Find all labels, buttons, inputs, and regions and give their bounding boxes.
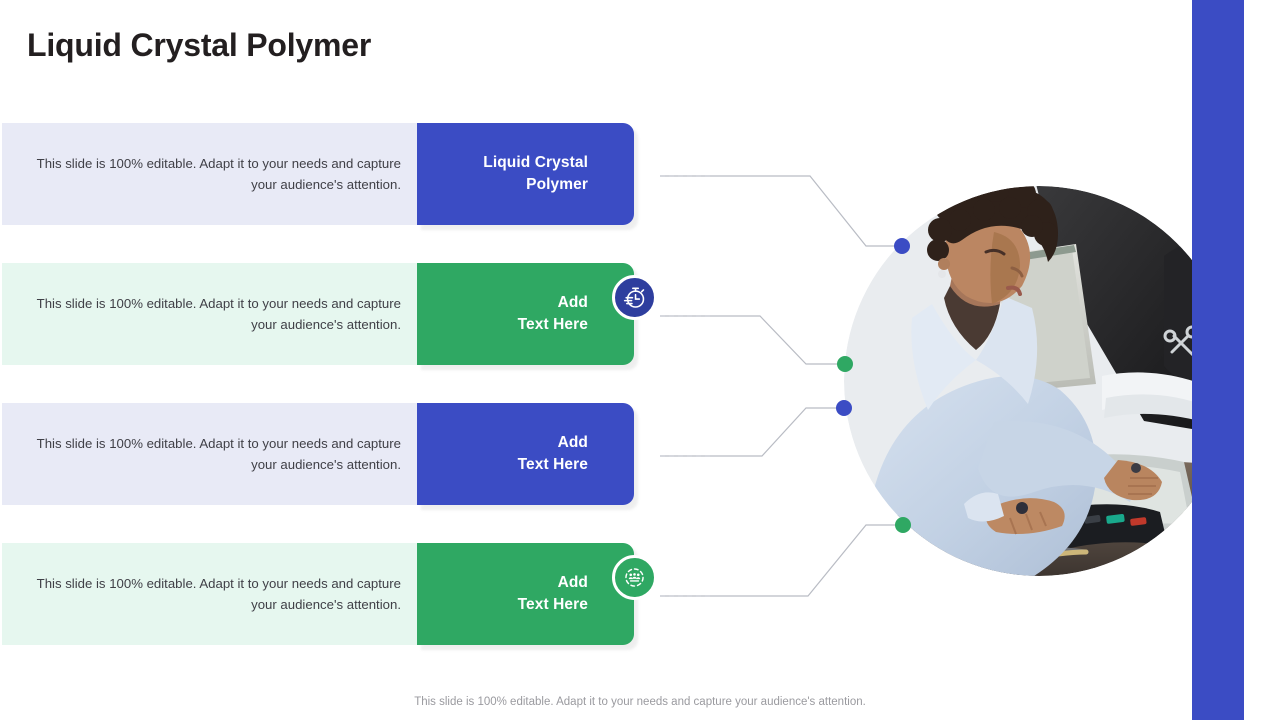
label-line-1: Add (558, 574, 588, 591)
label-line-2: Text Here (518, 456, 588, 473)
description-panel: This slide is 100% editable. Adapt it to… (2, 123, 417, 225)
connector-path-4 (660, 525, 898, 596)
connector-path-3 (660, 408, 842, 456)
description-panel: This slide is 100% editable. Adapt it to… (2, 403, 417, 505)
description-text: This slide is 100% editable. Adapt it to… (22, 433, 401, 475)
content-row[interactable]: This slide is 100% editable. Adapt it to… (0, 123, 660, 225)
team-target-icon[interactable] (612, 555, 657, 600)
label-line-2: Text Here (518, 596, 588, 613)
description-text: This slide is 100% editable. Adapt it to… (22, 153, 401, 195)
connector-node-dot (836, 400, 852, 416)
label-card[interactable]: Liquid Crystal Polymer (417, 123, 634, 225)
label-card[interactable]: Add Text Here (417, 263, 634, 365)
label-line-2: Text Here (518, 316, 588, 333)
connector-path-1 (660, 176, 896, 246)
description-text: This slide is 100% editable. Adapt it to… (22, 573, 401, 615)
page-title: Liquid Crystal Polymer (27, 24, 371, 66)
content-row[interactable]: This slide is 100% editable. Adapt it to… (0, 543, 660, 645)
content-row[interactable]: This slide is 100% editable. Adapt it to… (0, 403, 660, 505)
description-text: This slide is 100% editable. Adapt it to… (22, 293, 401, 335)
description-panel: This slide is 100% editable. Adapt it to… (2, 263, 417, 365)
content-row[interactable]: This slide is 100% editable. Adapt it to… (0, 263, 660, 365)
label-card[interactable]: Add Text Here (417, 403, 634, 505)
connector-node-dot (895, 517, 911, 533)
description-panel: This slide is 100% editable. Adapt it to… (2, 543, 417, 645)
label-line-1: Add (558, 294, 588, 311)
footer-note: This slide is 100% editable. Adapt it to… (0, 696, 1280, 708)
connector-path-2 (660, 316, 844, 364)
label-line-1: Liquid Crystal (483, 154, 588, 171)
label-line-1: Add (558, 434, 588, 451)
label-card-text: Add Text Here (518, 572, 588, 617)
connector-node-dot (894, 238, 910, 254)
label-card-text: Liquid Crystal Polymer (483, 152, 588, 197)
stopwatch-icon[interactable] (612, 275, 657, 320)
label-line-2: Polymer (526, 176, 588, 193)
label-card-text: Add Text Here (518, 292, 588, 337)
slide-canvas: Liquid Crystal Polymer This slide is 100… (0, 0, 1280, 720)
connector-node-dot (837, 356, 853, 372)
right-accent-bar (1192, 0, 1244, 720)
label-card[interactable]: Add Text Here (417, 543, 634, 645)
label-card-text: Add Text Here (518, 432, 588, 477)
